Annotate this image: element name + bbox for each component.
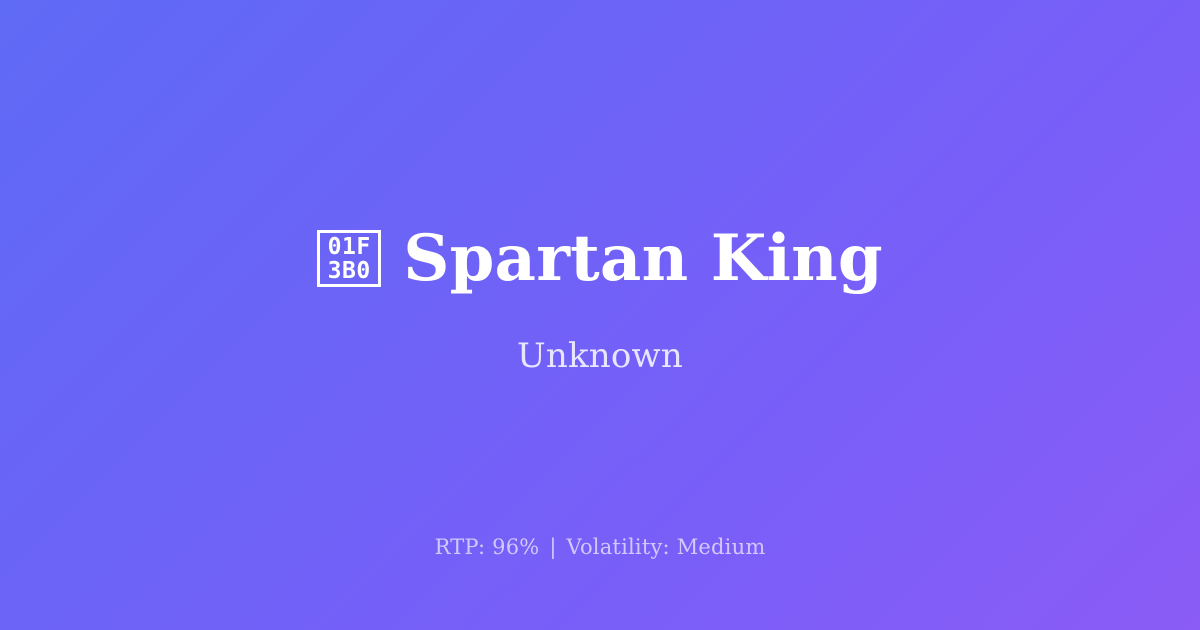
slot-machine-emoji-icon: 01F 3B0	[317, 230, 381, 287]
game-og-card: 01F 3B0 Spartan King Unknown RTP: 96% | …	[0, 0, 1200, 630]
hero-block: 01F 3B0 Spartan King Unknown	[0, 225, 1200, 377]
game-meta-footer: RTP: 96% | Volatility: Medium	[0, 535, 1200, 560]
game-title: Spartan King	[403, 225, 883, 292]
rtp-label: RTP:	[435, 535, 486, 559]
title-row: 01F 3B0 Spartan King	[317, 225, 883, 292]
game-provider-subtitle: Unknown	[517, 336, 683, 377]
volatility-label: Volatility:	[567, 535, 670, 559]
rtp-value: 96%	[492, 535, 539, 559]
tofu-codepoint-top: 01F	[328, 235, 371, 259]
meta-separator: |	[546, 535, 559, 559]
tofu-codepoint-bottom: 3B0	[328, 259, 371, 283]
volatility-value: Medium	[677, 535, 766, 559]
